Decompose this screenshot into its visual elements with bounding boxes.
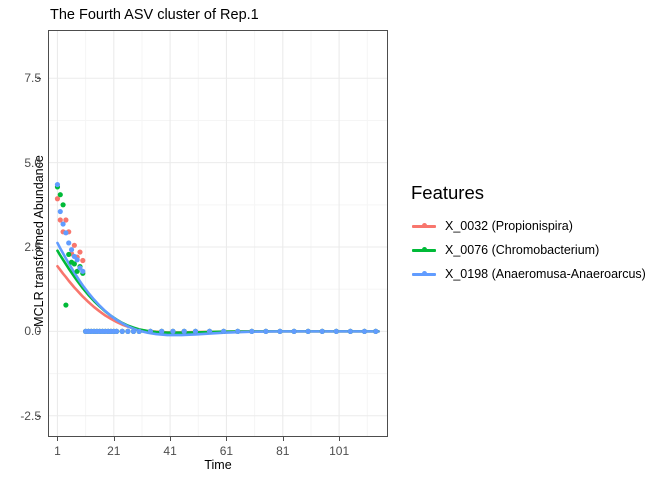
legend-color-key-icon bbox=[411, 262, 437, 286]
legend-key-point bbox=[422, 223, 427, 228]
data-point bbox=[58, 209, 63, 214]
data-point bbox=[63, 230, 68, 235]
data-point bbox=[306, 329, 311, 334]
x-axis-tick-mark bbox=[226, 437, 227, 441]
page-title: The Fourth ASV cluster of Rep.1 bbox=[50, 7, 259, 23]
x-axis-tick-label: 61 bbox=[220, 444, 233, 458]
data-point bbox=[249, 329, 254, 334]
data-point bbox=[263, 329, 268, 334]
y-axis-tick-mark bbox=[37, 331, 41, 332]
legend-color-key-icon bbox=[411, 238, 437, 262]
series-fit-line bbox=[57, 266, 378, 332]
data-point bbox=[80, 258, 85, 263]
data-point bbox=[60, 221, 65, 226]
data-point bbox=[69, 247, 74, 252]
legend-item-list: X_0032 (Propionispira)X_0076 (Chromobact… bbox=[411, 214, 646, 286]
data-point bbox=[182, 329, 187, 334]
data-point bbox=[114, 329, 119, 334]
data-point bbox=[193, 329, 198, 334]
legend-item[interactable]: X_0198 (Anaeromusa-Anaeroarcus) bbox=[411, 262, 646, 286]
data-point bbox=[291, 329, 296, 334]
x-axis-tick-label: 1 bbox=[54, 444, 61, 458]
legend-item-label: X_0198 (Anaeromusa-Anaeroarcus) bbox=[445, 267, 646, 281]
legend-title: Features bbox=[411, 182, 646, 204]
data-point bbox=[221, 329, 226, 334]
data-point bbox=[120, 329, 125, 334]
y-axis-tick-mark bbox=[37, 416, 41, 417]
y-axis-tick-mark bbox=[37, 247, 41, 248]
x-axis-tick-label: 81 bbox=[276, 444, 289, 458]
series-point-group bbox=[55, 184, 378, 334]
data-point bbox=[320, 329, 325, 334]
legend-color-key-icon bbox=[411, 214, 437, 238]
data-point bbox=[362, 329, 367, 334]
x-axis-title: Time bbox=[48, 458, 388, 472]
legend-key-point bbox=[422, 271, 427, 276]
data-point bbox=[63, 302, 68, 307]
y-axis-tick-label: 5.0 bbox=[0, 156, 41, 170]
x-axis-tick-mark bbox=[114, 437, 115, 441]
legend-item[interactable]: X_0032 (Propionispira) bbox=[411, 214, 646, 238]
data-point bbox=[373, 329, 378, 334]
data-point bbox=[348, 329, 353, 334]
x-axis-tick-mark bbox=[57, 437, 58, 441]
data-point bbox=[125, 329, 130, 334]
x-axis-tick-mark bbox=[339, 437, 340, 441]
y-axis-tick-label: 0.0 bbox=[0, 324, 41, 338]
legend-item[interactable]: X_0076 (Chromobacterium) bbox=[411, 238, 646, 262]
data-point bbox=[277, 329, 282, 334]
data-point bbox=[58, 192, 63, 197]
legend: Features X_0032 (Propionispira)X_0076 (C… bbox=[411, 182, 646, 286]
chart-canvas bbox=[49, 31, 387, 436]
data-point bbox=[77, 249, 82, 254]
x-axis-tick-label: 21 bbox=[107, 444, 120, 458]
y-axis-tick-group: -2.50.02.55.07.5 bbox=[0, 30, 41, 437]
data-point bbox=[66, 252, 71, 257]
y-axis-tick-mark bbox=[37, 78, 41, 79]
data-point bbox=[159, 329, 164, 334]
data-point bbox=[80, 269, 85, 274]
y-axis-tick-label: 2.5 bbox=[0, 240, 41, 254]
data-point bbox=[137, 329, 142, 334]
data-point bbox=[235, 329, 240, 334]
data-point bbox=[60, 202, 65, 207]
data-point bbox=[170, 329, 175, 334]
x-axis-tick-mark bbox=[283, 437, 284, 441]
data-point bbox=[148, 329, 153, 334]
legend-key-point bbox=[422, 247, 427, 252]
plot-panel bbox=[48, 30, 388, 437]
legend-item-label: X_0076 (Chromobacterium) bbox=[445, 243, 599, 257]
x-axis-tick-label: 101 bbox=[329, 444, 349, 458]
y-axis-tick-mark bbox=[37, 163, 41, 164]
y-axis-tick-label: 7.5 bbox=[0, 71, 41, 85]
legend-item-label: X_0032 (Propionispira) bbox=[445, 219, 573, 233]
data-point bbox=[66, 240, 71, 245]
chart-root: The Fourth ASV cluster of Rep.1 MCLR tra… bbox=[0, 0, 672, 480]
data-point bbox=[334, 329, 339, 334]
data-point bbox=[207, 329, 212, 334]
data-point bbox=[72, 243, 77, 248]
x-axis-tick-label: 41 bbox=[163, 444, 176, 458]
x-axis-tick-mark bbox=[170, 437, 171, 441]
data-point bbox=[131, 329, 136, 334]
y-axis-tick-label: -2.5 bbox=[0, 409, 41, 423]
data-point bbox=[55, 182, 60, 187]
data-point bbox=[75, 257, 80, 262]
series-fit-line bbox=[57, 251, 378, 333]
